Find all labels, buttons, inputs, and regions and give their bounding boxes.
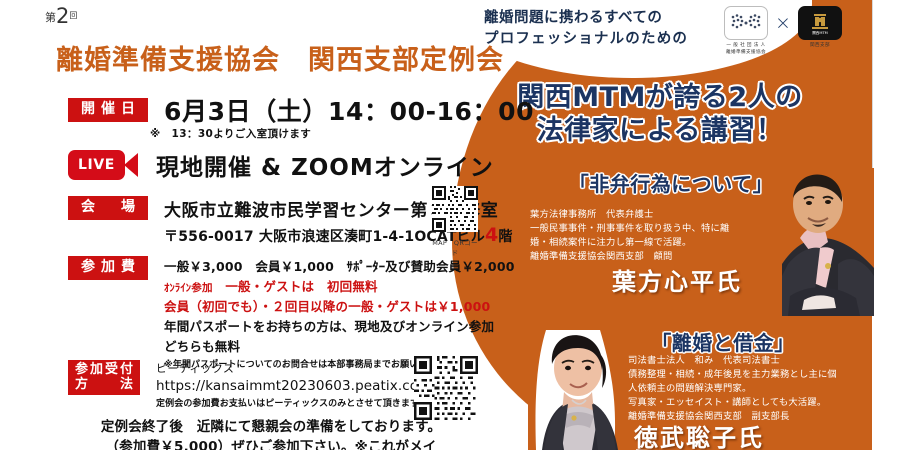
registration-body: ピーティックス https://kansaimmt20230603.peatix… xyxy=(156,360,431,409)
registration-qr-block[interactable] xyxy=(414,356,478,424)
fee-line-1: 一般￥3,000 会員￥1,000 ｻﾎﾟｰﾀｰ及び賛助会員￥2,000 xyxy=(164,256,515,275)
fee-line-5: どちらも無料 xyxy=(164,336,515,355)
live-badge-lens xyxy=(124,153,138,177)
fee-tag: 参加費 xyxy=(68,256,148,280)
association-logo: 一 般 社 団 法 人 離婚準備支援協会 xyxy=(722,6,770,57)
fee-row: 参加費 一般￥3,000 会員￥1,000 ｻﾎﾟｰﾀｰ及び賛助会員￥2,000… xyxy=(68,256,515,370)
registration-url[interactable]: https://kansaimmt20230603.peatix.com xyxy=(156,378,431,394)
speaker-2-bio: 司法書士法人 和み 代表司法書士 債務整理・相続・成年後見を主力業務とし主に個 … xyxy=(628,354,860,424)
white-right-strip xyxy=(872,0,920,450)
flyer-canvas: 離婚問題に携わるすべての プロフェッショナルのための xyxy=(0,0,920,450)
speaker-2-bio-line2: 債務整理・相続・成年後見を主力業務とし主に個 xyxy=(628,368,860,382)
speaker-1-bio-line3: 婚・相続案件に注力し第一線で活躍。 xyxy=(530,236,762,250)
after-party-line-2: （参加費￥5,000）ぜひご参加下さい。※これがメイン！ xyxy=(96,438,446,450)
page-title: 離婚準備支援協会 関西支部定例会 xyxy=(56,38,504,77)
venue-tag: 会 場 xyxy=(68,196,148,220)
branch-logo: 関西MTM 関西支部 xyxy=(796,6,844,50)
speaker-2-bio-line3: 人依頼主の問題解決専門家。 xyxy=(628,382,860,396)
logo-group: 一 般 社 団 法 人 離婚準備支援協会 × 関西MTM 関西支部 xyxy=(722,6,897,62)
svg-text:関西MTM: 関西MTM xyxy=(812,30,828,35)
fee-line-2: ｵﾝﾗｲﾝ参加 一般・ゲストは 初回無料 xyxy=(164,276,515,295)
venue-floor-unit: 階 xyxy=(498,229,512,245)
ribbon-dots-icon xyxy=(724,6,768,40)
assoc-cap-line2: 離婚準備支援協会 xyxy=(726,50,766,57)
registration-tag: 参加受付 方 法 xyxy=(68,360,140,395)
registration-qr-code-icon[interactable] xyxy=(414,356,478,420)
speaker-1-bio-line2: 一般民事事件・刑事事件を取り扱う中、特に離 xyxy=(530,222,762,236)
speaker-2-bio-line4: 写真家・エッセイスト・講師としても大活躍。 xyxy=(628,396,860,410)
association-logo-caption: 一 般 社 団 法 人 離婚準備支援協会 xyxy=(726,43,766,57)
tagline-line-2: プロフェッショナルのための xyxy=(484,29,734,50)
branch-mark-icon: 関西MTM xyxy=(798,6,842,40)
speaker-1-topic: 「非弁行為について」 xyxy=(546,168,796,197)
tagline-line-1: 離婚問題に携わるすべての xyxy=(484,8,734,29)
live-text: 現地開催 & ZOOMオンライン xyxy=(156,148,494,182)
map-qr-block[interactable]: MAP QRコード xyxy=(432,186,478,257)
live-row: LIVE 現地開催 & ZOOMオンライン xyxy=(68,148,494,182)
issue-suffix: 回 xyxy=(69,11,77,20)
after-party-note: 定例会終了後 近隣にて懇親会の準備をしております。 （参加費￥5,000）ぜひご… xyxy=(96,418,446,450)
date-text: 6月3日（土）14：00-16：00 xyxy=(164,92,534,128)
assoc-cap-line1: 一 般 社 団 法 人 xyxy=(726,43,766,50)
speaker-1-bio: 葉方法律事務所 代表弁護士 一般民事事件・刑事事件を取り扱う中、特に離 婚・相続… xyxy=(530,208,762,264)
issue-value: 2 xyxy=(56,4,69,28)
fee-online-label: ｵﾝﾗｲﾝ参加 xyxy=(164,282,213,294)
date-note: ※ 13：30よりご入室頂けます xyxy=(150,126,311,141)
times-separator-icon: × xyxy=(770,6,796,40)
issue-number: 第2回 xyxy=(45,4,77,28)
branch-logo-caption: 関西支部 xyxy=(810,43,830,50)
speaker-2-topic: 「離婚と借金」 xyxy=(618,327,828,356)
fee-line-4: 年間パスポートをお持ちの方は、現地及びオンライン参加 xyxy=(164,316,515,335)
speaker-2-bio-line1: 司法書士法人 和み 代表司法書士 xyxy=(628,354,860,368)
registration-row: 参加受付 方 法 ピーティックス https://kansaimmt202306… xyxy=(68,360,431,409)
registration-note: 定例会の参加費お支払いはピーティックスのみとさせて頂きます。 xyxy=(156,396,431,409)
date-tag: 開催日 xyxy=(68,98,148,122)
tagline: 離婚問題に携わるすべての プロフェッショナルのための xyxy=(484,8,734,50)
map-qr-caption: MAP QRコード xyxy=(432,237,478,257)
speaker-1-name: 葉方心平氏 xyxy=(612,262,742,297)
date-row: 開催日 6月3日（土）14：00-16：00 xyxy=(68,92,534,128)
fee-line-3: 会員（初回でも）・２回目以降の一般・ゲストは￥1,000 xyxy=(164,296,515,315)
map-qr-code-icon[interactable] xyxy=(432,186,478,232)
issue-prefix: 第 xyxy=(45,11,56,24)
live-badge-label: LIVE xyxy=(68,150,125,180)
live-badge-icon: LIVE xyxy=(68,150,140,180)
registration-tag-line2: 方 法 xyxy=(75,377,135,392)
registration-tag-line1: 参加受付 xyxy=(75,362,135,377)
registration-service: ピーティックス xyxy=(156,360,431,376)
speaker-2-name: 徳武聡子氏 xyxy=(634,418,764,450)
fee-online-text: 一般・ゲストは 初回無料 xyxy=(213,279,378,294)
venue-floor-number: 4 xyxy=(485,224,498,246)
after-party-line-1: 定例会終了後 近隣にて懇親会の準備をしております。 xyxy=(96,418,446,438)
speaker-1-bio-line1: 葉方法律事務所 代表弁護士 xyxy=(530,208,762,222)
fee-body: 一般￥3,000 会員￥1,000 ｻﾎﾟｰﾀｰ及び賛助会員￥2,000 ｵﾝﾗ… xyxy=(164,256,515,370)
